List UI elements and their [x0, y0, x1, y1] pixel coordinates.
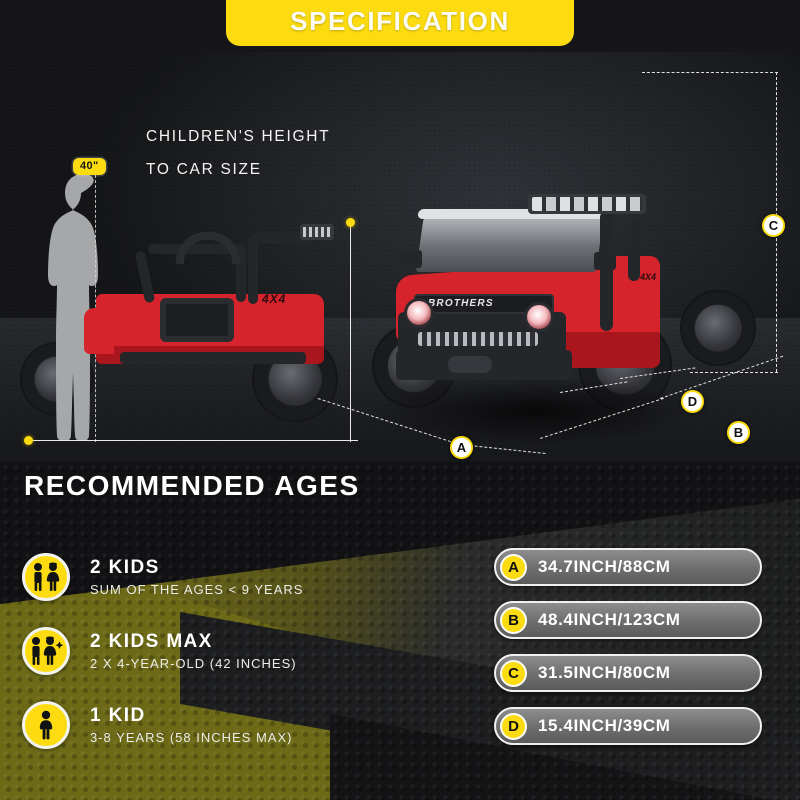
- dimension-value: 31.5INCH/80CM: [538, 663, 671, 683]
- page-title: SPECIFICATION: [290, 8, 510, 38]
- age-title: 1 KID: [90, 705, 292, 727]
- dimension-marker-c[interactable]: C: [762, 214, 785, 237]
- two-kids-max-icon: [22, 627, 70, 675]
- age-title: 2 KIDS: [90, 557, 303, 579]
- age-list: 2 KIDS SUM OF THE AGES < 9 YEARS: [22, 540, 482, 762]
- recommended-ages-title: RECOMMENDED AGES: [24, 472, 360, 500]
- dimension-letter: B: [500, 607, 527, 634]
- dimension-marker-d[interactable]: D: [681, 390, 704, 413]
- height-top-dot: [346, 218, 355, 227]
- dimension-letter: D: [500, 713, 527, 740]
- side-vehicle-decal: 4X4: [262, 292, 286, 306]
- dimension-marker-b[interactable]: B: [727, 421, 750, 444]
- hero-diagram-panel: CHILDREN'S HEIGHT TO CAR SIZE: [0, 46, 800, 478]
- hero-heading-line1: CHILDREN'S HEIGHT: [146, 120, 330, 153]
- age-subtitle: 2 X 4-YEAR-OLD (42 INCHES): [90, 656, 297, 672]
- front-grille-badge: BROTHERS: [428, 298, 494, 309]
- hero-heading-line2: TO CAR SIZE: [146, 153, 330, 186]
- specification-infographic: SPECIFICATION CHILDREN'S HEIGHT TO CAR S…: [0, 0, 800, 800]
- dimension-pill-d[interactable]: D 15.4INCH/39CM: [494, 707, 762, 745]
- dimension-pill-b[interactable]: B 48.4INCH/123CM: [494, 601, 762, 639]
- dimension-letter: A: [500, 554, 527, 581]
- age-row: 2 KIDS MAX 2 X 4-YEAR-OLD (42 INCHES): [22, 614, 482, 688]
- baseline-start-dot: [24, 436, 33, 445]
- age-subtitle: SUM OF THE AGES < 9 YEARS: [90, 582, 303, 598]
- age-text: 2 KIDS SUM OF THE AGES < 9 YEARS: [90, 557, 303, 597]
- age-subtitle: 3-8 YEARS (58 INCHES MAX): [90, 730, 292, 746]
- dimension-value: 15.4INCH/39CM: [538, 716, 671, 736]
- one-kid-icon: [22, 701, 70, 749]
- header-bar: SPECIFICATION: [0, 0, 800, 52]
- dimension-value: 48.4INCH/123CM: [538, 610, 681, 630]
- ground-baseline: [28, 440, 358, 441]
- front-vehicle-side-decal: 4X4: [640, 272, 656, 282]
- header-banner: SPECIFICATION: [226, 0, 574, 46]
- age-row: 2 KIDS SUM OF THE AGES < 9 YEARS: [22, 540, 482, 614]
- dimension-pill-c[interactable]: C 31.5INCH/80CM: [494, 654, 762, 692]
- hero-heading: CHILDREN'S HEIGHT TO CAR SIZE: [146, 120, 330, 186]
- age-title: 2 KIDS MAX: [90, 631, 297, 653]
- dimension-marker-a[interactable]: A: [450, 436, 473, 459]
- dimension-list: A 34.7INCH/88CM B 48.4INCH/123CM C 31.5I…: [494, 548, 762, 760]
- age-text: 2 KIDS MAX 2 X 4-YEAR-OLD (42 INCHES): [90, 631, 297, 671]
- dimension-value: 34.7INCH/88CM: [538, 557, 671, 577]
- dashline-c-top: [642, 72, 778, 73]
- age-text: 1 KID 3-8 YEARS (58 INCHES MAX): [90, 705, 292, 745]
- age-row: 1 KID 3-8 YEARS (58 INCHES MAX): [22, 688, 482, 762]
- dimension-letter: C: [500, 660, 527, 687]
- height-badge: 40": [73, 158, 106, 175]
- dimension-pill-a[interactable]: A 34.7INCH/88CM: [494, 548, 762, 586]
- two-kids-icon: [22, 553, 70, 601]
